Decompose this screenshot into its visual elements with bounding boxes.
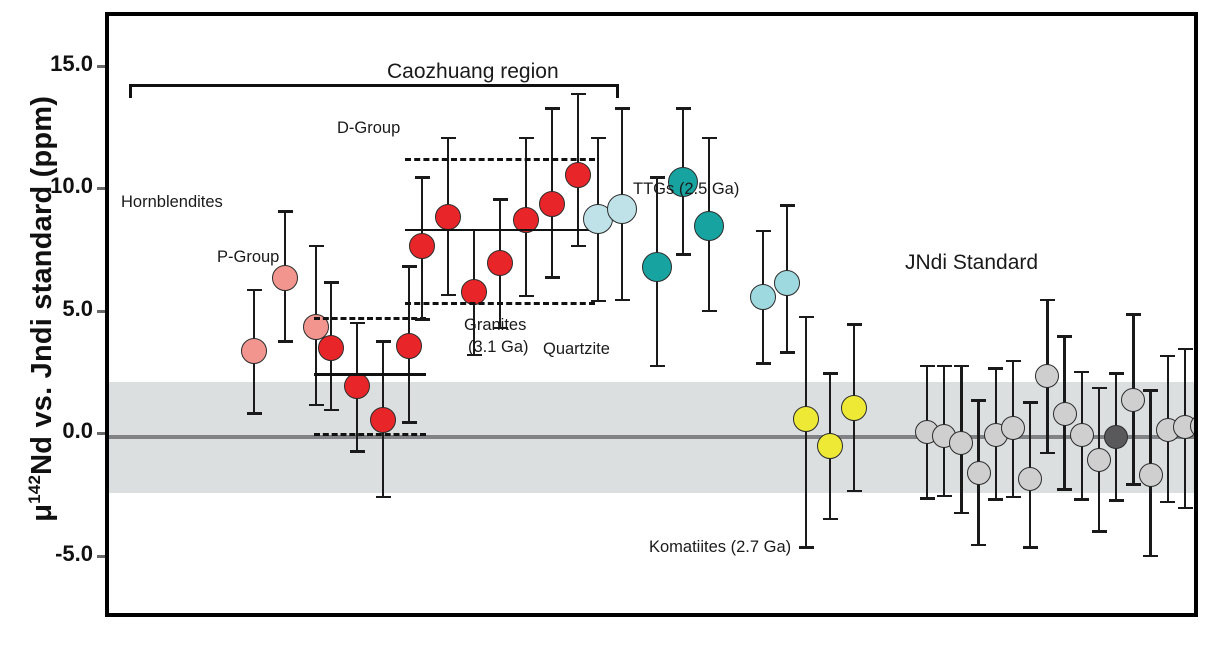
error-bar-cap-upper: [324, 281, 339, 284]
error-bar-cap-lower: [376, 496, 391, 499]
error-bar-cap-lower: [247, 412, 262, 415]
marker-jndi-standard: [1053, 402, 1077, 426]
error-bar-cap-lower: [847, 490, 862, 493]
marker-jndi-standard: [1104, 425, 1128, 449]
marker-p-group: [344, 373, 370, 399]
marker-ttgs-2-5-ga: [750, 284, 776, 310]
marker-jndi-standard: [1139, 463, 1163, 487]
marker-quartzite: [642, 252, 672, 282]
error-bar-cap-lower: [591, 300, 606, 303]
y-tick-label: 0.0: [0, 418, 93, 444]
error-bar-cap-upper: [988, 367, 1003, 370]
error-bar-cap-upper: [937, 365, 952, 368]
error-bar-cap-lower: [1040, 452, 1055, 455]
marker-ttgs-2-5-ga: [774, 270, 800, 296]
plot-area: Caozhuang regionHornblenditesP-GroupD-Gr…: [105, 12, 1198, 617]
annotation-caozhuang-region: Caozhuang region: [387, 60, 559, 84]
error-bar-cap-lower: [780, 351, 795, 354]
error-bar-cap-lower: [441, 294, 456, 297]
error-bar-cap-lower: [650, 365, 665, 368]
error-bar-cap-lower: [1057, 488, 1072, 491]
error-bar-cap-lower: [1074, 498, 1089, 501]
y-tick-label: 5.0: [0, 296, 93, 322]
error-bar-cap-upper: [1178, 348, 1193, 351]
y-tick-label: -5.0: [0, 541, 93, 567]
error-bar: [805, 317, 808, 547]
error-bar-cap-lower: [519, 295, 534, 298]
error-bar-cap-lower: [1143, 555, 1158, 558]
error-bar-cap-lower: [1160, 501, 1175, 504]
error-bar-cap-lower: [309, 404, 324, 407]
marker-d-group: [409, 233, 435, 259]
marker-komatiites-2-7-ga: [793, 406, 819, 432]
annotation-jndi-standard: JNdi Standard: [905, 251, 1038, 275]
error-bar-cap-lower: [702, 310, 717, 313]
y-tick-label: 10.0: [0, 173, 93, 199]
marker-komatiites-2-7-ga: [841, 395, 867, 421]
error-bar-cap-lower: [799, 546, 814, 549]
error-bar-cap-upper: [493, 198, 508, 201]
group-sd-lower-line: [405, 302, 595, 305]
marker-d-group: [565, 162, 591, 188]
group-sd-lower-line: [314, 433, 426, 436]
marker-p-group: [318, 335, 344, 361]
group-mean-line: [314, 373, 426, 376]
y-tick-label: 15.0: [0, 51, 93, 77]
error-bar-cap-lower: [350, 450, 365, 453]
group-sd-upper-line: [405, 158, 595, 161]
error-bar-cap-upper: [920, 365, 935, 368]
error-bar-cap-lower: [954, 512, 969, 515]
error-bar-cap-upper: [1006, 360, 1021, 363]
error-bar-cap-upper: [1074, 371, 1089, 374]
error-bar-cap-upper: [376, 340, 391, 343]
group-sd-upper-line: [314, 317, 426, 320]
error-bar-cap-upper: [954, 365, 969, 368]
caozhuang-region-bracket: [129, 84, 619, 98]
error-bar-cap-lower: [571, 245, 586, 248]
error-bar-cap-lower: [988, 498, 1003, 501]
error-bar-cap-upper: [702, 137, 717, 140]
error-bar-cap-upper: [780, 204, 795, 207]
error-bar-cap-upper: [591, 137, 606, 140]
annotation-komatiites: Komatiites (2.7 Ga): [649, 538, 791, 557]
error-bar-cap-upper: [309, 245, 324, 248]
error-bar-cap-upper: [1126, 313, 1141, 316]
error-bar-cap-lower: [402, 421, 417, 424]
annotation-ttgs: TTGs (2.5 Ga): [633, 180, 739, 199]
error-bar-cap-lower: [756, 362, 771, 365]
marker-quartzite: [694, 211, 724, 241]
error-bar-cap-lower: [615, 299, 630, 302]
error-bar-cap-upper: [1092, 387, 1107, 390]
error-bar-cap-lower: [278, 340, 293, 343]
error-bar-cap-upper: [1143, 389, 1158, 392]
annotation-granites-line2: (3.1 Ga): [468, 338, 529, 357]
annotation-hornblendites: Hornblendites: [121, 193, 223, 212]
error-bar-cap-lower: [823, 518, 838, 521]
error-bar-cap-upper: [519, 137, 534, 140]
error-bar-cap-upper: [350, 322, 365, 325]
error-bar-cap-upper: [823, 372, 838, 375]
marker-hornblendites: [241, 338, 267, 364]
error-bar-cap-lower: [1178, 507, 1193, 510]
error-bar-cap-lower: [676, 253, 691, 256]
error-bar-cap-lower: [1006, 496, 1021, 499]
error-bar-cap-lower: [1195, 518, 1198, 521]
error-bar-cap-lower: [971, 544, 986, 547]
error-bar-cap-lower: [1109, 499, 1124, 502]
error-bar-cap-upper: [247, 289, 262, 292]
error-bar-cap-upper: [847, 323, 862, 326]
error-bar-cap-upper: [676, 107, 691, 110]
marker-d-group: [487, 250, 513, 276]
marker-jndi-standard: [1018, 467, 1042, 491]
marker-d-group: [539, 191, 565, 217]
error-bar-cap-upper: [402, 265, 417, 268]
annotation-quartzite: Quartzite: [543, 340, 610, 359]
error-bar-cap-upper: [1160, 355, 1175, 358]
error-bar-cap-upper: [545, 107, 560, 110]
marker-p-group: [396, 333, 422, 359]
marker-p-group: [370, 407, 396, 433]
error-bar-cap-upper: [1109, 372, 1124, 375]
error-bar-cap-lower: [1126, 483, 1141, 486]
error-bar-cap-upper: [278, 210, 293, 213]
error-bar-cap-upper: [799, 316, 814, 319]
annotation-granites-line1: Granites: [464, 316, 526, 335]
error-bar-cap-upper: [756, 230, 771, 233]
error-bar-cap-upper: [1195, 338, 1198, 341]
group-mean-line: [405, 229, 595, 232]
error-bar-cap-upper: [1040, 299, 1055, 302]
annotation-p-group: P-Group: [217, 248, 279, 267]
error-bar-cap-lower: [324, 409, 339, 412]
error-bar-cap-lower: [415, 318, 430, 321]
marker-jndi-standard: [1070, 423, 1094, 447]
error-bar-cap-upper: [650, 176, 665, 179]
error-bar-cap-upper: [441, 137, 456, 140]
annotation-d-group: D-Group: [337, 119, 400, 138]
error-bar-cap-lower: [937, 495, 952, 498]
marker-komatiites-2-7-ga: [817, 433, 843, 459]
error-bar-cap-upper: [971, 399, 986, 402]
marker-d-group: [435, 204, 461, 230]
error-bar-cap-upper: [615, 107, 630, 110]
marker-hornblendites: [272, 265, 298, 291]
marker-jndi-standard: [967, 461, 991, 485]
error-bar-cap-upper: [1023, 401, 1038, 404]
error-bar-cap-lower: [1092, 530, 1107, 533]
error-bar-cap-lower: [1023, 546, 1038, 549]
marker-jndi-standard: [1035, 364, 1059, 388]
error-bar-cap-upper: [415, 176, 430, 179]
error-bar-cap-upper: [1057, 335, 1072, 338]
error-bar-cap-lower: [545, 276, 560, 279]
error-bar-cap-lower: [920, 497, 935, 500]
figure-root: μ142Nd vs. Jndi standard (ppm) 15.010.05…: [0, 0, 1212, 645]
